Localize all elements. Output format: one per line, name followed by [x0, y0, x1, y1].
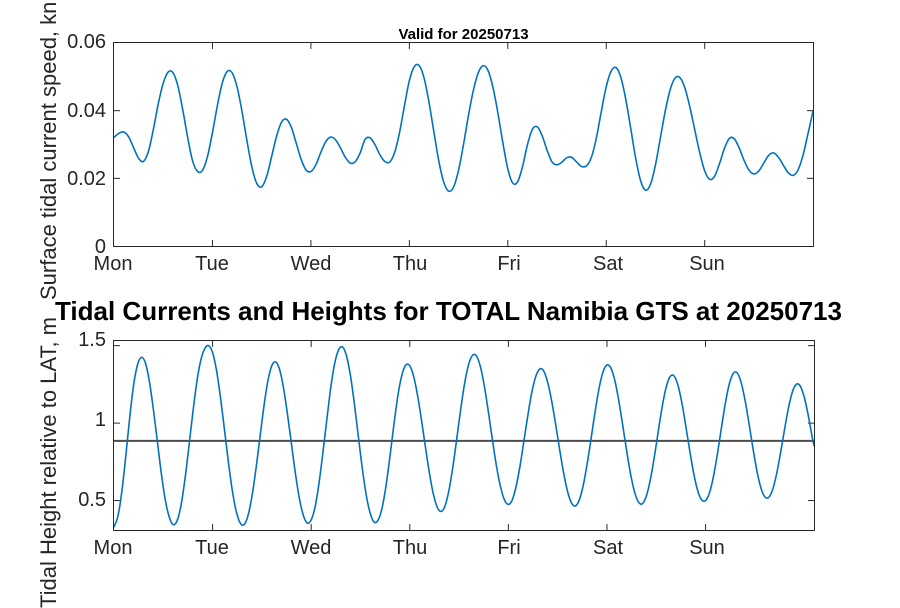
figure-main-title: Tidal Currents and Heights for TOTAL Nam…	[55, 296, 842, 327]
heights-xtick-wed: Wed	[271, 537, 351, 560]
heights-xtick-sun: Sun	[667, 537, 747, 560]
heights-plot-svg	[114, 341, 814, 530]
heights-y-axis-label: Tidal Height relative to LAT, m	[36, 317, 62, 608]
currents-plot-svg	[114, 43, 813, 246]
heights-xtick-tue: Tue	[172, 537, 252, 560]
heights-xtick-thu: Thu	[370, 537, 450, 560]
heights-ytick-1: 1	[28, 409, 106, 432]
currents-xtick-sat: Sat	[568, 253, 648, 276]
currents-plot-area	[113, 42, 814, 247]
heights-ytick-2: 1.5	[28, 329, 106, 352]
currents-ytick-1: 0.02	[28, 168, 106, 191]
heights-xtick-mon: Mon	[73, 537, 153, 560]
currents-xtick-mon: Mon	[73, 253, 153, 276]
heights-xtick-sat: Sat	[568, 537, 648, 560]
data-series-0	[114, 64, 813, 191]
currents-ytick-2: 0.04	[28, 100, 106, 123]
data-series-0	[114, 345, 814, 526]
currents-subplot-title: Valid for 20250713	[113, 26, 814, 43]
currents-ytick-3: 0.06	[28, 31, 106, 54]
heights-plot-area	[113, 340, 815, 531]
currents-xtick-wed: Wed	[271, 253, 351, 276]
currents-xtick-thu: Thu	[370, 253, 450, 276]
heights-ytick-0: 0.5	[28, 489, 106, 512]
heights-xtick-fri: Fri	[469, 537, 549, 560]
currents-xtick-sun: Sun	[667, 253, 747, 276]
currents-xtick-tue: Tue	[172, 253, 252, 276]
currents-xtick-fri: Fri	[469, 253, 549, 276]
